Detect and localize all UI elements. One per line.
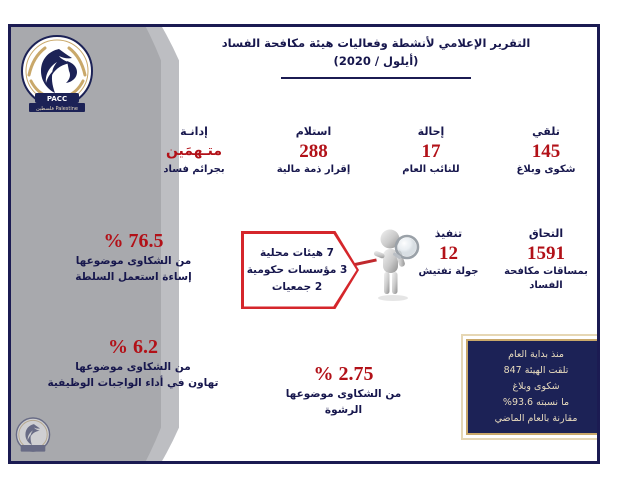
stat-sub: للنائب العام: [381, 163, 481, 177]
stat-convictions: إدانـة متـهمَين بجرائم فساد: [139, 123, 249, 177]
pct-line-1: من الشكاوى موضوعها: [33, 359, 233, 375]
pct-value: % 6.2: [33, 335, 233, 359]
stat-value: 288: [256, 140, 371, 163]
poster-title-line2: (أيلول / 2020): [161, 52, 591, 71]
pct-line-1: من الشكاوى موضوعها: [41, 253, 226, 269]
stat-value: 145: [491, 140, 600, 163]
pacc-logo-watermark: [15, 415, 51, 457]
stat-value: 17: [381, 140, 481, 163]
stat-sub-2: الفساد: [491, 279, 600, 293]
pct-abuse-of-power: % 76.5 من الشكاوى موضوعها إساءة استعمل ا…: [41, 229, 226, 285]
pct-line-2: إساءة استعمل السلطة: [41, 269, 226, 285]
summary-line-1: منذ بداية العام: [508, 347, 564, 363]
stat-sub: بجرائم فساد: [139, 163, 249, 177]
stat-label: استلام: [256, 123, 371, 140]
stat-label: إحالة: [381, 123, 481, 140]
pct-bribery: % 2.75 من الشكاوى موضوعها الرشوة: [256, 362, 431, 418]
arrow-callout: 7 هيئات محلية 3 مؤسسات حكومية 2 جمعيات: [244, 234, 357, 307]
stat-value: متـهمَين: [139, 140, 249, 163]
poster-title-line1: التقرير الإعلامي لأنشطة وفعاليات هيئة مك…: [161, 35, 591, 52]
arrow-line-3: 2 جمعيات: [244, 279, 357, 296]
stat-referrals: إحالة 17 للنائب العام: [381, 123, 481, 177]
stat-value: 1591: [491, 242, 600, 265]
stat-financial-disclosures: استلام 288 إقرار ذمة مالية: [256, 123, 371, 177]
stat-sub: شكوى وبلاغ: [491, 163, 600, 177]
infographic-poster: PACC Palestine فلسطين التقرير الإعلامي ل…: [8, 24, 600, 464]
inspector-magnifier-icon: [366, 227, 420, 301]
arrow-line-1: 7 هيئات محلية: [244, 245, 357, 262]
stat-label: تلقي: [491, 123, 600, 140]
pacc-logo: PACC Palestine فلسطين: [19, 31, 95, 117]
stat-label: التحاق: [491, 225, 600, 242]
summary-line-2: تلقت الهيئة 847: [504, 363, 569, 379]
summary-line-3: شكوى وبلاغ: [512, 379, 559, 395]
poster-title-block: التقرير الإعلامي لأنشطة وفعاليات هيئة مك…: [161, 35, 591, 79]
pct-line-2: الرشوة: [256, 402, 431, 418]
pct-line-1: من الشكاوى موضوعها: [256, 386, 431, 402]
title-divider: [281, 77, 471, 79]
stat-label: إدانـة: [139, 123, 249, 140]
pct-value: % 2.75: [256, 362, 431, 386]
stat-sub: بمساقات مكافحة: [491, 265, 600, 279]
stat-course-enrollment: التحاق 1591 بمساقات مكافحة الفساد: [491, 225, 600, 293]
stat-sub: إقرار ذمة مالية: [256, 163, 371, 177]
stat-received-complaints: تلقي 145 شكوى وبلاغ: [491, 123, 600, 177]
pct-line-2: تهاون في أداء الواجبات الوظيفية: [33, 375, 233, 391]
year-to-date-summary-box: منذ بداية العام تلقت الهيئة 847 شكوى وبل…: [466, 339, 600, 435]
pacc-logo-subtitle: Palestine فلسطين: [36, 106, 78, 112]
pacc-logo-name: PACC: [47, 95, 67, 103]
arrow-line-2: 3 مؤسسات حكومية: [244, 262, 357, 279]
summary-line-4: ما نسبته 93.6%: [503, 395, 569, 411]
pct-negligence-of-duty: % 6.2 من الشكاوى موضوعها تهاون في أداء ا…: [33, 335, 233, 391]
summary-line-5: مقارنة بالعام الماضي: [495, 411, 578, 427]
pct-value: % 76.5: [41, 229, 226, 253]
